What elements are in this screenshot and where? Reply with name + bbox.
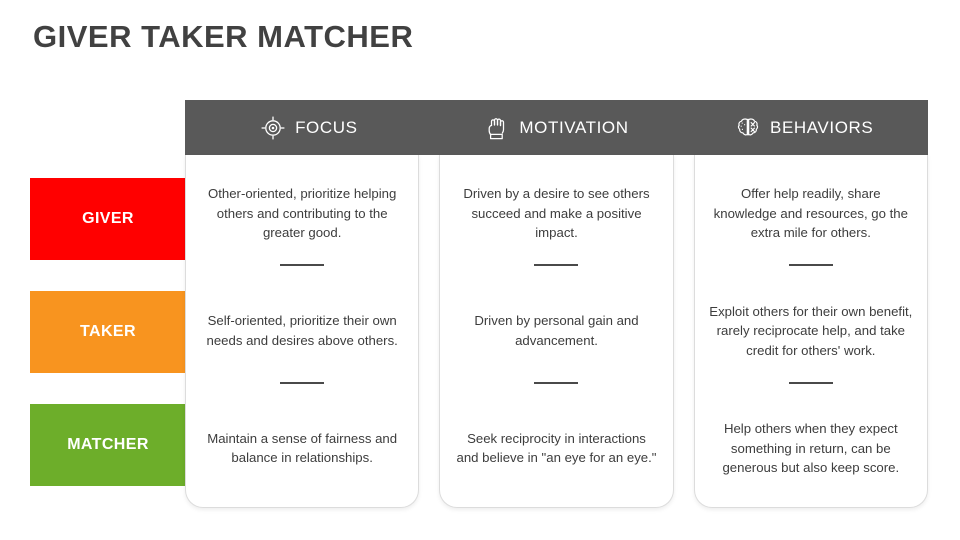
legend-item-matcher[interactable]: MATCHER — [30, 404, 186, 486]
column-header-label: FOCUS — [295, 118, 358, 138]
cell-divider — [789, 382, 833, 384]
cell-text: Other-oriented, prioritize helping other… — [200, 184, 404, 243]
cell-focus-giver: Other-oriented, prioritize helping other… — [200, 155, 404, 272]
page-title: GIVER TAKER MATCHER — [33, 18, 413, 56]
target-icon — [260, 115, 286, 141]
cell-text: Help others when they expect something i… — [709, 419, 913, 478]
column-header-label: BEHAVIORS — [770, 118, 873, 138]
column-header-motivation[interactable]: MOTIVATION — [433, 100, 681, 155]
cell-text: Maintain a sense of fairness and balance… — [200, 429, 404, 468]
matrix-cards: Other-oriented, prioritize helping other… — [185, 155, 928, 508]
column-header-focus[interactable]: FOCUS — [185, 100, 433, 155]
cell-behaviors-giver: Offer help readily, share knowledge and … — [709, 155, 913, 272]
cell-divider — [280, 382, 324, 384]
cell-motivation-matcher: Seek reciprocity in interactions and bel… — [454, 390, 658, 507]
category-legend: GIVER TAKER MATCHER — [30, 178, 186, 486]
legend-item-giver[interactable]: GIVER — [30, 178, 186, 260]
cell-text: Seek reciprocity in interactions and bel… — [454, 429, 658, 468]
cell-focus-taker: Self-oriented, prioritize their own need… — [200, 272, 404, 389]
card-behaviors: Offer help readily, share knowledge and … — [694, 155, 928, 508]
cell-motivation-taker: Driven by personal gain and advancement. — [454, 272, 658, 389]
legend-item-label: MATCHER — [67, 436, 149, 454]
legend-item-label: TAKER — [80, 323, 136, 341]
brain-icon — [735, 115, 761, 141]
cell-divider — [789, 264, 833, 266]
cell-motivation-giver: Driven by a desire to see others succeed… — [454, 155, 658, 272]
legend-item-label: GIVER — [82, 210, 134, 228]
cell-text: Driven by personal gain and advancement. — [454, 311, 658, 350]
column-header-bar: FOCUS MOTIVATION BEHAVIORS — [185, 100, 928, 155]
fist-icon — [484, 115, 510, 141]
cell-text: Exploit others for their own benefit, ra… — [709, 302, 913, 361]
cell-behaviors-taker: Exploit others for their own benefit, ra… — [709, 272, 913, 389]
cell-divider — [534, 382, 578, 384]
column-header-behaviors[interactable]: BEHAVIORS — [680, 100, 928, 155]
cell-focus-matcher: Maintain a sense of fairness and balance… — [200, 390, 404, 507]
column-header-label: MOTIVATION — [519, 118, 628, 138]
card-motivation: Driven by a desire to see others succeed… — [439, 155, 673, 508]
card-focus: Other-oriented, prioritize helping other… — [185, 155, 419, 508]
cell-text: Offer help readily, share knowledge and … — [709, 184, 913, 243]
cell-divider — [534, 264, 578, 266]
cell-divider — [280, 264, 324, 266]
cell-text: Self-oriented, prioritize their own need… — [200, 311, 404, 350]
legend-item-taker[interactable]: TAKER — [30, 291, 186, 373]
cell-text: Driven by a desire to see others succeed… — [454, 184, 658, 243]
cell-behaviors-matcher: Help others when they expect something i… — [709, 390, 913, 507]
